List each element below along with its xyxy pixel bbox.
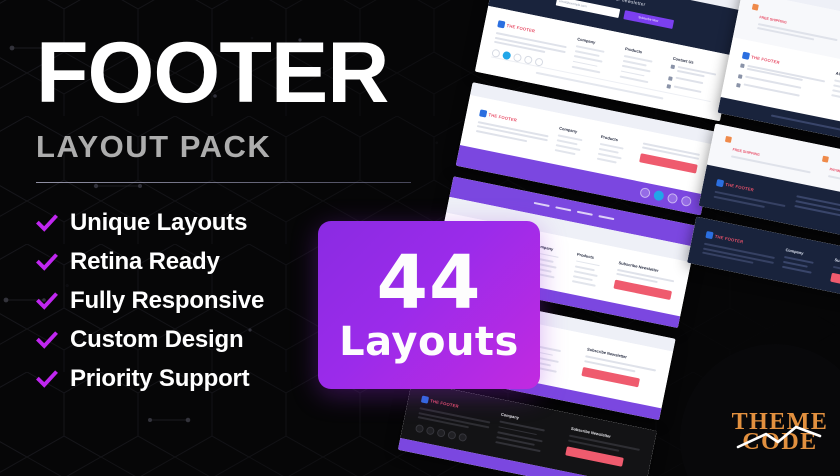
subscribe-column: Subscribe Newsletter — [830, 257, 840, 294]
brand-name: THE FOOTER — [725, 182, 754, 193]
brand-name: THE FOOTER — [714, 234, 743, 245]
feature-label: Priority Support — [70, 365, 249, 393]
brand-mark-icon — [716, 179, 724, 187]
shipping-icon — [725, 135, 732, 142]
linkedin-icon[interactable] — [524, 55, 533, 64]
layout-count-number: 44 — [377, 248, 482, 318]
linkedin-icon[interactable] — [680, 195, 692, 207]
location-icon — [671, 65, 676, 70]
twitter-icon[interactable] — [502, 51, 511, 60]
nav-item[interactable] — [598, 215, 614, 220]
layout-count-label: Layouts — [339, 322, 519, 362]
links-column: Company — [554, 125, 593, 161]
links-column: Products — [596, 134, 635, 170]
check-icon — [36, 212, 58, 234]
card-heading: FREE SHIPPING — [759, 15, 787, 24]
promo-banner: Subscribe our newsletter email@example.c… — [0, 0, 840, 476]
brand-column: THE FOOTER — [475, 109, 551, 153]
nav-item[interactable] — [555, 206, 571, 211]
brand-column: THE FOOTER — [713, 179, 788, 214]
subscribe-column — [637, 142, 700, 183]
mail-icon — [667, 84, 672, 89]
check-icon — [36, 290, 58, 312]
brand-name: THE FOOTER — [751, 54, 780, 65]
nav-item[interactable] — [534, 202, 550, 207]
feature-card: FREE SHIPPING — [722, 135, 815, 175]
subscribe-button[interactable] — [830, 273, 840, 293]
twitter-icon[interactable] — [653, 190, 665, 202]
phone-icon — [668, 76, 673, 81]
email-field[interactable]: email@example.com — [555, 0, 620, 18]
links-column — [792, 195, 840, 237]
location-icon — [740, 64, 745, 69]
brand-name: THE FOOTER — [488, 112, 517, 123]
secure-icon — [822, 155, 829, 162]
divider — [36, 182, 411, 183]
check-icon — [36, 368, 58, 390]
subscribe-column: Subscribe Newsletter — [580, 347, 658, 398]
brand-mark-icon — [479, 109, 487, 117]
youtube-icon[interactable] — [667, 193, 679, 205]
nav-item[interactable] — [577, 211, 593, 216]
youtube-icon[interactable] — [513, 53, 522, 62]
brand-name: THE FOOTER — [506, 23, 535, 34]
brand-mark-icon — [742, 51, 750, 59]
feature-label: Custom Design — [70, 326, 243, 354]
themecode-logo: THEME CODE — [722, 410, 838, 454]
subscribe-column: Subscribe Newsletter — [564, 426, 642, 476]
phone-icon — [738, 74, 743, 79]
brand-mark-icon — [705, 231, 713, 239]
card-heading: FREE SHIPPING — [732, 147, 760, 156]
page-subtitle: LAYOUT PACK — [36, 129, 470, 165]
layout-count-badge: 44 Layouts — [318, 221, 540, 389]
links-column: Company — [781, 247, 826, 280]
links-column: Company — [571, 36, 617, 80]
brand-mark-icon — [497, 20, 505, 28]
brand-column: THE FOOTER — [735, 51, 827, 107]
feature-label: Retina Ready — [70, 248, 220, 276]
links-column: Company — [494, 412, 562, 461]
column-heading: Subscribe Newsletter — [618, 260, 676, 276]
feature-card: FREE SHIPPING — [748, 3, 840, 47]
brand-column: THE FOOTER — [702, 231, 778, 270]
feature-label: Fully Responsive — [70, 287, 264, 315]
instagram-icon[interactable] — [534, 57, 543, 66]
subscribe-button[interactable] — [613, 280, 672, 300]
mail-icon — [736, 83, 741, 88]
links-column: Products — [618, 46, 664, 90]
shipping-icon — [752, 3, 759, 10]
facebook-icon[interactable] — [639, 187, 651, 199]
links-column: Products — [571, 251, 611, 292]
check-icon — [36, 329, 58, 351]
subscribe-column: Subscribe Newsletter — [612, 260, 676, 306]
page-title: FOOTER — [36, 34, 470, 113]
facebook-icon[interactable] — [491, 49, 500, 58]
feature-label: Unique Layouts — [70, 209, 247, 237]
check-icon — [36, 251, 58, 273]
subscribe-button[interactable]: Subscribe Now — [623, 10, 674, 29]
